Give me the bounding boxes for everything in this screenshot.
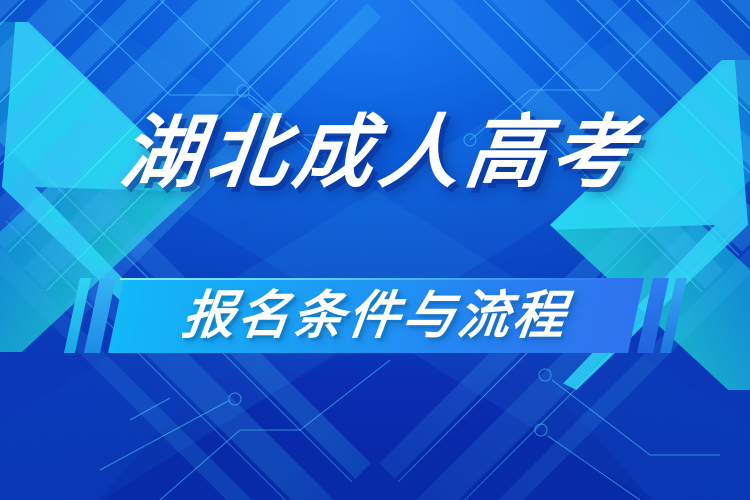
poster-title: 湖北成人高考: [107, 113, 643, 193]
subtitle-text-container: 报名条件与流程: [116, 278, 636, 353]
title-container: 湖北成人高考: [0, 113, 750, 193]
poster-subtitle: 报名条件与流程: [180, 290, 571, 342]
subtitle-banner-row: 报名条件与流程: [0, 278, 750, 353]
poster-canvas: 湖北成人高考 报名条件与流程: [0, 0, 750, 500]
